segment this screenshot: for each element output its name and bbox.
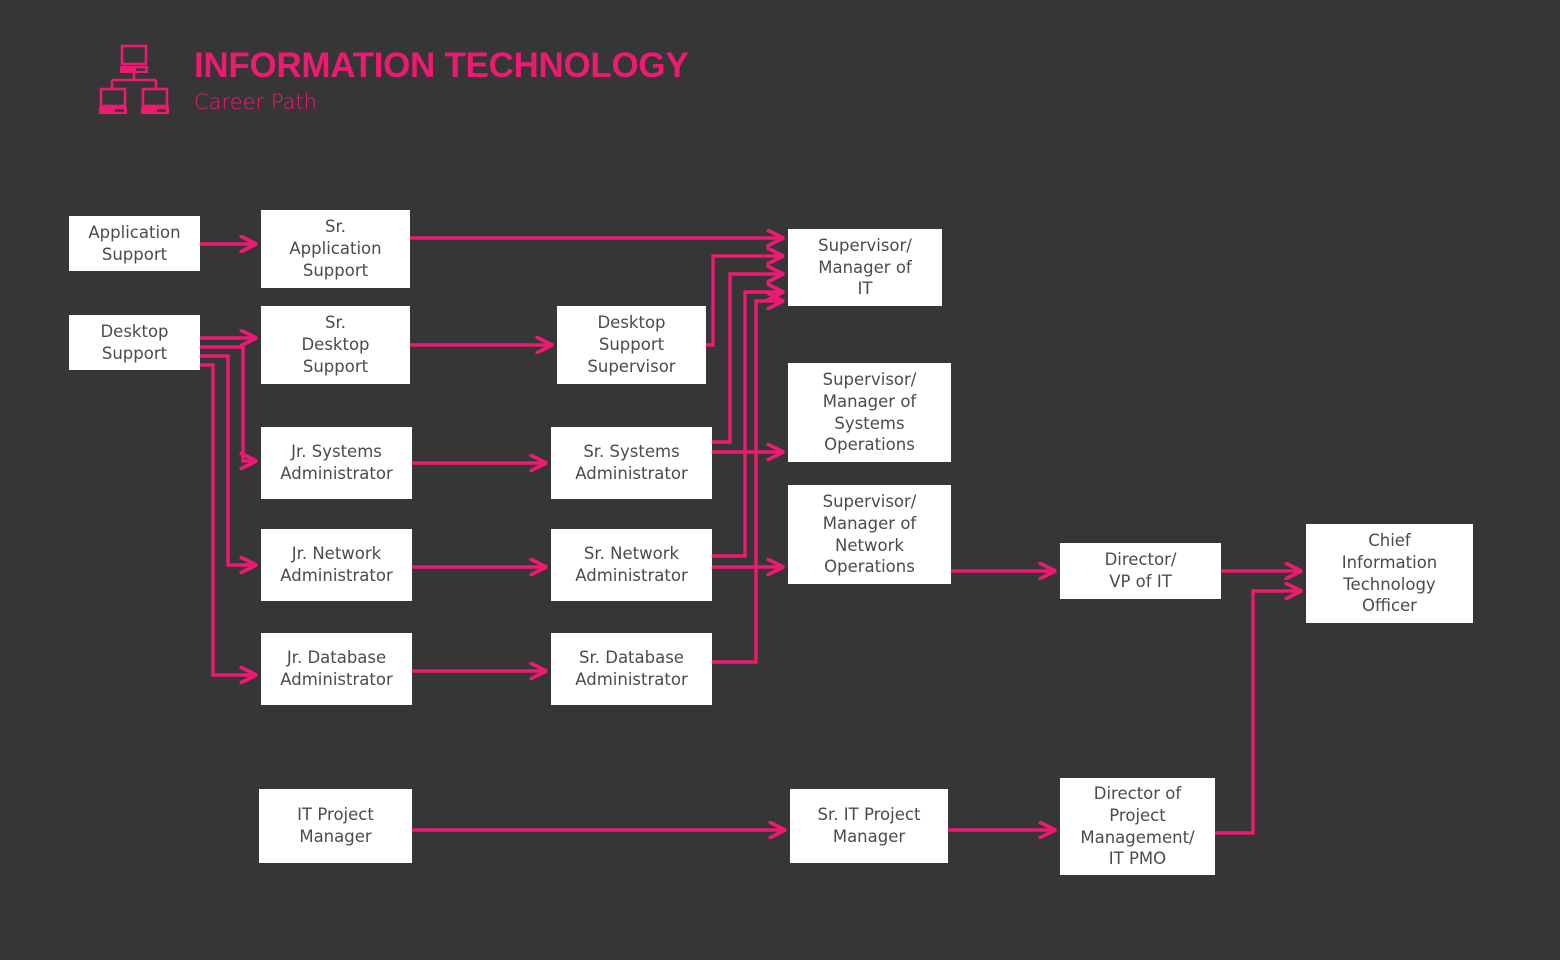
computer-network-icon (98, 44, 170, 116)
edge-desktop-support-to-jr-network-administrator (200, 356, 256, 565)
node-supervisor-manager-systems-ops[interactable]: Supervisor/ Manager of Systems Operation… (788, 363, 951, 462)
edge-desktop-support-to-jr-database-administrator (200, 365, 256, 675)
page-title: INFORMATION TECHNOLOGY (194, 48, 688, 83)
node-it-project-manager[interactable]: IT Project Manager (259, 789, 412, 863)
edge-sr-database-administrator-to-supervisor-manager-it (712, 301, 783, 662)
edge-sr-systems-administrator-to-supervisor-manager-it (712, 274, 783, 442)
node-director-vp-it[interactable]: Director/ VP of IT (1060, 543, 1221, 599)
node-chief-information-technology-officer[interactable]: Chief Information Technology Officer (1306, 524, 1473, 623)
edge-desktop-support-to-jr-systems-administrator (200, 347, 256, 461)
node-jr-network-administrator[interactable]: Jr. Network Administrator (261, 529, 412, 601)
node-supervisor-manager-network-ops[interactable]: Supervisor/ Manager of Network Operation… (788, 485, 951, 584)
edge-sr-network-administrator-to-supervisor-manager-it (712, 292, 783, 556)
node-application-support[interactable]: Application Support (69, 216, 200, 271)
node-sr-application-support[interactable]: Sr. Application Support (261, 210, 410, 288)
edge-director-pmo-to-cio (1215, 591, 1301, 833)
node-supervisor-manager-it[interactable]: Supervisor/ Manager of IT (788, 229, 942, 306)
node-jr-database-administrator[interactable]: Jr. Database Administrator (261, 633, 412, 705)
career-path-diagram: INFORMATION TECHNOLOGY Career Path (0, 0, 1560, 960)
node-sr-network-administrator[interactable]: Sr. Network Administrator (551, 529, 712, 601)
node-jr-systems-administrator[interactable]: Jr. Systems Administrator (261, 427, 412, 499)
edge-desktop-support-supervisor-to-supervisor-manager-it (706, 256, 783, 345)
node-sr-database-administrator[interactable]: Sr. Database Administrator (551, 633, 712, 705)
node-sr-desktop-support[interactable]: Sr. Desktop Support (261, 306, 410, 384)
node-sr-systems-administrator[interactable]: Sr. Systems Administrator (551, 427, 712, 499)
node-sr-it-project-manager[interactable]: Sr. IT Project Manager (790, 789, 948, 863)
node-desktop-support[interactable]: Desktop Support (69, 315, 200, 370)
header: INFORMATION TECHNOLOGY Career Path (98, 44, 688, 116)
connector-layer (0, 0, 1560, 960)
page-subtitle: Career Path (194, 92, 688, 113)
node-desktop-support-supervisor[interactable]: Desktop Support Supervisor (557, 306, 706, 384)
node-director-project-management-pmo[interactable]: Director of Project Management/ IT PMO (1060, 778, 1215, 875)
title-block: INFORMATION TECHNOLOGY Career Path (194, 48, 688, 113)
